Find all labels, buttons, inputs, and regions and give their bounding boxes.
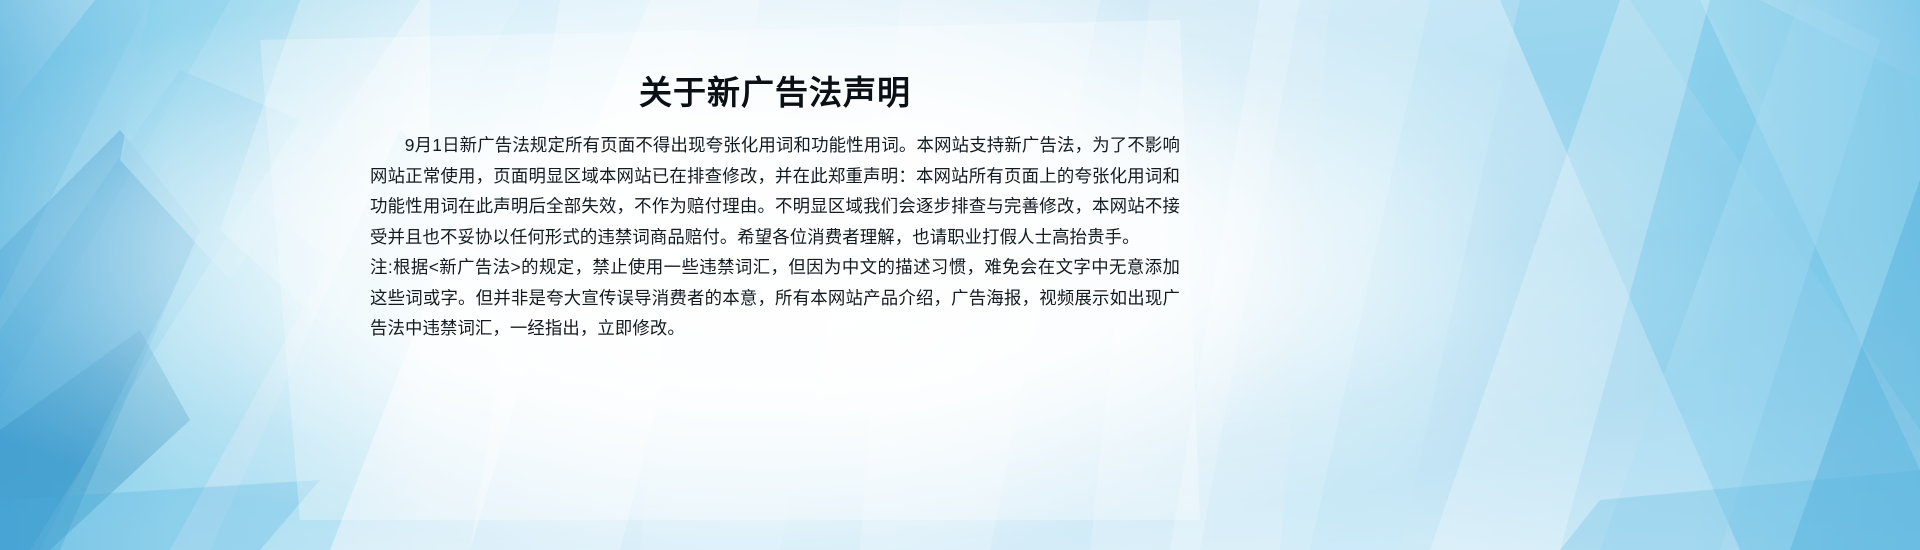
statement-content: 关于新广告法声明 9月1日新广告法规定所有页面不得出现夸张化用词和功能性用词。本…	[370, 70, 1180, 344]
banner-stage: 关于新广告法声明 9月1日新广告法规定所有页面不得出现夸张化用词和功能性用词。本…	[0, 0, 1920, 550]
statement-note-paragraph: 注:根据<新广告法>的规定，禁止使用一些违禁词汇，但因为中文的描述习惯，难免会在…	[370, 252, 1180, 344]
page-title: 关于新广告法声明	[370, 70, 1180, 116]
statement-body-paragraph: 9月1日新广告法规定所有页面不得出现夸张化用词和功能性用词。本网站支持新广告法，…	[370, 130, 1180, 252]
